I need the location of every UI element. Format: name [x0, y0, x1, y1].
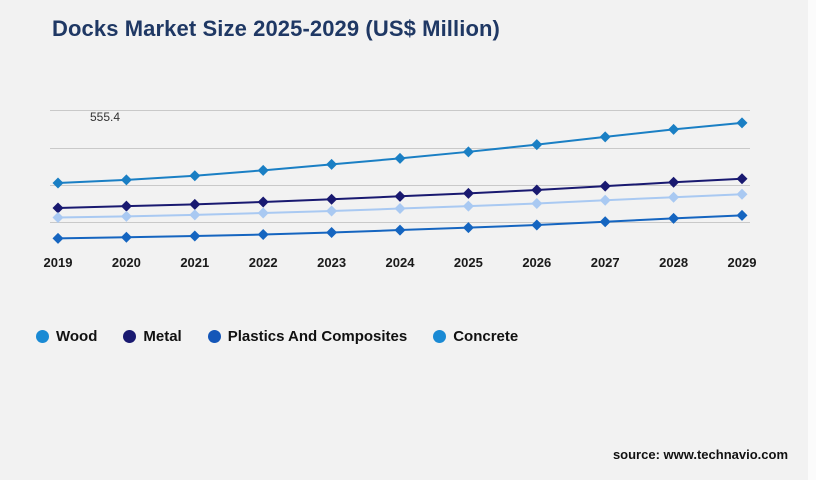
source-note: source: www.technavio.com — [613, 447, 788, 462]
data-point-marker[interactable] — [737, 173, 748, 184]
data-point-marker[interactable] — [531, 139, 542, 150]
legend-item-label: Plastics And Composites — [228, 328, 408, 345]
data-point-marker[interactable] — [668, 192, 679, 203]
data-point-marker[interactable] — [189, 231, 200, 242]
legend-item-label: Concrete — [453, 328, 518, 345]
data-point-marker[interactable] — [121, 201, 132, 212]
legend-marker-icon — [433, 330, 446, 343]
data-point-marker[interactable] — [53, 233, 64, 244]
data-point-marker[interactable] — [463, 146, 474, 157]
legend-marker-icon — [208, 330, 221, 343]
page-title: Docks Market Size 2025-2029 (US$ Million… — [52, 16, 500, 42]
chart-legend: WoodMetalPlastics And CompositesConcrete — [36, 324, 544, 348]
data-point-marker[interactable] — [668, 177, 679, 188]
data-point-marker[interactable] — [121, 174, 132, 185]
data-point-marker[interactable] — [258, 165, 269, 176]
legend-item-metal[interactable]: Metal — [123, 328, 181, 345]
data-point-marker[interactable] — [395, 153, 406, 164]
legend-marker-icon — [123, 330, 136, 343]
legend-item-wood[interactable]: Wood — [36, 328, 97, 345]
data-point-marker[interactable] — [258, 229, 269, 240]
x-axis-tick-2028: 2028 — [642, 255, 706, 270]
data-point-marker[interactable] — [258, 208, 269, 219]
data-point-marker[interactable] — [737, 117, 748, 128]
data-point-marker[interactable] — [121, 232, 132, 243]
x-axis-tick-2021: 2021 — [163, 255, 227, 270]
series-plot — [50, 84, 750, 234]
chart-page: Docks Market Size 2025-2029 (US$ Million… — [0, 0, 816, 480]
data-point-marker[interactable] — [53, 202, 64, 213]
legend-item-plastics-and-composites[interactable]: Plastics And Composites — [208, 328, 408, 345]
data-point-marker[interactable] — [463, 188, 474, 199]
data-point-marker[interactable] — [668, 213, 679, 224]
legend-item-concrete[interactable]: Concrete — [433, 328, 518, 345]
data-point-marker[interactable] — [189, 170, 200, 181]
x-axis-tick-2026: 2026 — [505, 255, 569, 270]
data-point-marker[interactable] — [463, 222, 474, 233]
x-axis: 2019202020212022202320242025202620272028… — [50, 255, 750, 275]
x-axis-tick-2020: 2020 — [94, 255, 158, 270]
legend-item-label: Metal — [143, 328, 181, 345]
data-point-marker[interactable] — [600, 181, 611, 192]
data-label-wood-2019: 555.4 — [90, 110, 120, 124]
data-point-marker[interactable] — [326, 227, 337, 238]
x-axis-tick-2019: 2019 — [26, 255, 90, 270]
x-axis-tick-2025: 2025 — [436, 255, 500, 270]
page-right-gutter — [808, 0, 816, 480]
data-point-marker[interactable] — [326, 205, 337, 216]
data-point-marker[interactable] — [600, 216, 611, 227]
data-point-marker[interactable] — [53, 212, 64, 223]
x-axis-tick-2029: 2029 — [710, 255, 774, 270]
data-point-marker[interactable] — [53, 178, 64, 189]
series-wood — [53, 117, 748, 188]
data-point-marker[interactable] — [463, 201, 474, 212]
data-point-marker[interactable] — [395, 203, 406, 214]
legend-marker-icon — [36, 330, 49, 343]
data-point-marker[interactable] — [395, 225, 406, 236]
x-axis-tick-2022: 2022 — [231, 255, 295, 270]
legend-item-label: Wood — [56, 328, 97, 345]
data-point-marker[interactable] — [668, 124, 679, 135]
data-point-marker[interactable] — [531, 219, 542, 230]
data-point-marker[interactable] — [189, 199, 200, 210]
data-point-marker[interactable] — [531, 185, 542, 196]
data-point-marker[interactable] — [600, 195, 611, 206]
data-point-marker[interactable] — [531, 198, 542, 209]
x-axis-tick-2023: 2023 — [300, 255, 364, 270]
x-axis-tick-2024: 2024 — [368, 255, 432, 270]
data-point-marker[interactable] — [395, 191, 406, 202]
data-point-marker[interactable] — [326, 194, 337, 205]
data-point-marker[interactable] — [189, 209, 200, 220]
data-point-marker[interactable] — [258, 196, 269, 207]
data-point-marker[interactable] — [600, 131, 611, 142]
x-axis-tick-2027: 2027 — [573, 255, 637, 270]
data-point-marker[interactable] — [737, 189, 748, 200]
data-point-marker[interactable] — [121, 211, 132, 222]
data-point-marker[interactable] — [737, 210, 748, 221]
data-point-marker[interactable] — [326, 159, 337, 170]
